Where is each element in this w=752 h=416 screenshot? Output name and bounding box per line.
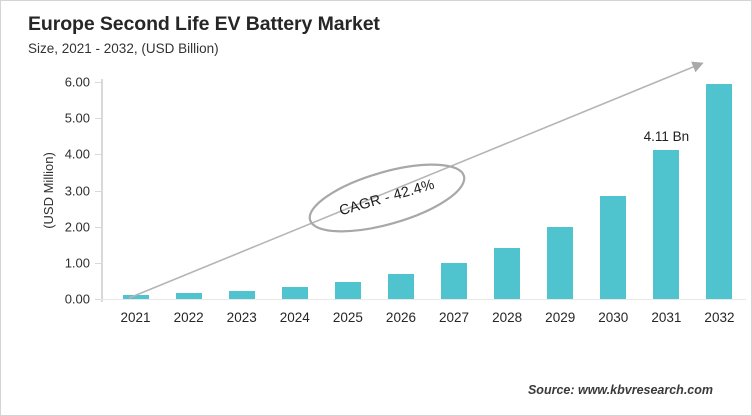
bar-2021 bbox=[123, 295, 149, 299]
y-axis-tick bbox=[95, 299, 101, 300]
y-axis-tick bbox=[95, 118, 101, 119]
y-axis-tick-label: 0.00 bbox=[65, 292, 90, 307]
bar-2025 bbox=[335, 282, 361, 299]
y-axis-line bbox=[101, 79, 103, 302]
x-axis-tick-label: 2023 bbox=[227, 310, 257, 325]
y-axis-tick-label: 1.00 bbox=[65, 255, 90, 270]
y-axis-tick-label: 5.00 bbox=[65, 111, 90, 126]
x-axis-line bbox=[101, 299, 746, 300]
bar-2031 bbox=[653, 150, 679, 299]
title-block: Europe Second Life EV Battery Market Siz… bbox=[28, 12, 628, 59]
bar-2026 bbox=[388, 274, 414, 299]
y-axis-tick bbox=[95, 82, 101, 83]
y-axis-tick-label: 4.00 bbox=[65, 147, 90, 162]
x-axis-tick-label: 2022 bbox=[174, 310, 204, 325]
bar-2029 bbox=[547, 227, 573, 299]
page-title: Europe Second Life EV Battery Market bbox=[28, 12, 628, 36]
x-axis-tick-label: 2028 bbox=[492, 310, 522, 325]
source-note: Source: www.kbvresearch.com bbox=[528, 383, 713, 397]
x-axis-tick-label: 2031 bbox=[651, 310, 681, 325]
bar-2023 bbox=[229, 291, 255, 299]
x-axis-tick-label: 2024 bbox=[280, 310, 310, 325]
x-axis-tick-label: 2026 bbox=[386, 310, 416, 325]
y-axis-title-label: (USD Million) bbox=[41, 152, 56, 229]
y-axis-tick bbox=[95, 191, 101, 192]
y-axis-tick bbox=[95, 263, 101, 264]
bar-value-label: 4.11 Bn bbox=[644, 129, 690, 144]
bar-2032 bbox=[706, 84, 732, 299]
x-axis-tick-label: 2030 bbox=[598, 310, 628, 325]
bar-2022 bbox=[176, 293, 202, 299]
bar-2027 bbox=[441, 263, 467, 299]
y-axis-tick-label: 3.00 bbox=[65, 183, 90, 198]
x-axis-tick-label: 2032 bbox=[704, 310, 734, 325]
bar-2024 bbox=[282, 287, 308, 299]
chart-subtitle: Size, 2021 - 2032, (USD Billion) bbox=[28, 39, 628, 59]
y-axis-tick bbox=[95, 154, 101, 155]
y-axis-tick bbox=[95, 227, 101, 228]
y-axis-title: (USD Million) bbox=[38, 82, 58, 299]
bar-2028 bbox=[494, 248, 520, 299]
y-axis-tick-label: 2.00 bbox=[65, 219, 90, 234]
x-axis-tick-label: 2021 bbox=[121, 310, 151, 325]
x-axis-tick-label: 2025 bbox=[333, 310, 363, 325]
x-axis-tick-label: 2027 bbox=[439, 310, 469, 325]
chart-card: Europe Second Life EV Battery Market Siz… bbox=[0, 0, 752, 416]
bar-2030 bbox=[600, 196, 626, 299]
x-axis-tick-label: 2029 bbox=[545, 310, 575, 325]
y-axis-tick-label: 6.00 bbox=[65, 75, 90, 90]
